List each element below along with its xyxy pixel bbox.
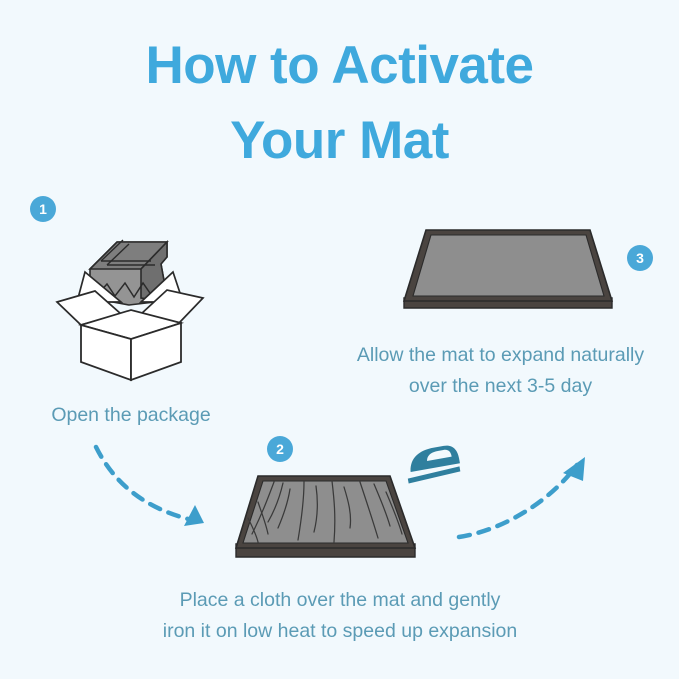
step-1-caption: Open the package [0,400,262,431]
step-3-caption-line-2: over the next 3-5 day [322,371,679,402]
step-1-badge: 1 [30,196,56,222]
step-2-caption: Place a cloth over the mat and gently ir… [70,585,610,647]
open-box-illustration [55,228,260,393]
step-2-caption-line-2: iron it on low heat to speed up expansio… [70,616,610,647]
step-3-badge: 3 [627,245,653,271]
step-3-caption: Allow the mat to expand naturally over t… [322,340,679,402]
page-title-line-2: Your Mat [0,103,679,178]
page-title: How to Activate Your Mat [0,28,679,179]
mat-with-cloth-illustration [228,462,423,567]
page-title-line-1: How to Activate [0,28,679,103]
step-3-caption-line-1: Allow the mat to expand naturally [322,340,679,371]
expanded-mat-illustration [398,222,618,322]
dashed-curved-arrow-up-right-icon [455,443,605,543]
dashed-curved-arrow-down-right-icon [92,443,232,543]
step-2-badge: 2 [267,436,293,462]
step-1-caption-line-1: Open the package [0,400,262,431]
infographic-canvas: How to Activate Your Mat 1 [0,0,679,679]
step-2-caption-line-1: Place a cloth over the mat and gently [70,585,610,616]
